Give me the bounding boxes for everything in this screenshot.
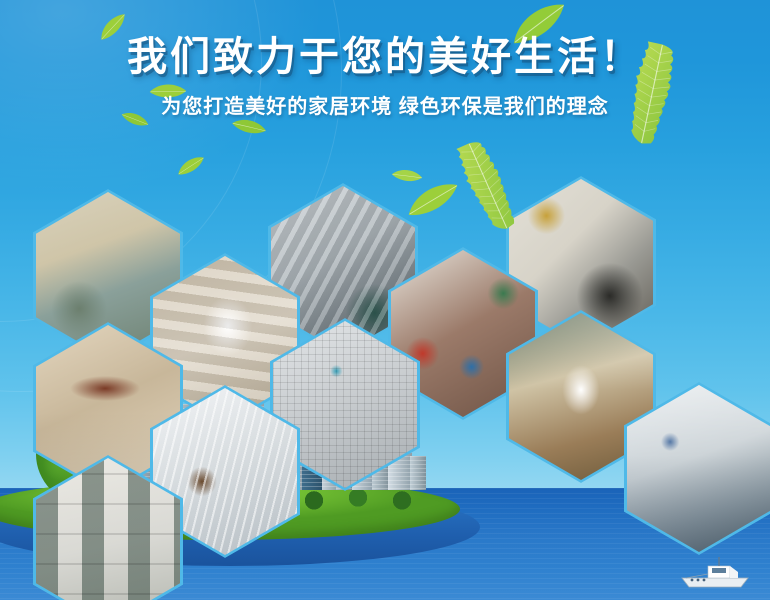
page-title: 我们致力于您的美好生活！ — [0, 34, 770, 80]
headline-block: 我们致力于您的美好生活！ 为您打造美好的家居环境 绿色环保是我们的理念 — [0, 34, 770, 120]
page-subtitle: 为您打造美好的家居环境 绿色环保是我们的理念 — [0, 94, 770, 120]
promo-banner: 我们致力于您的美好生活！ 为您打造美好的家居环境 绿色环保是我们的理念 — [0, 0, 770, 600]
